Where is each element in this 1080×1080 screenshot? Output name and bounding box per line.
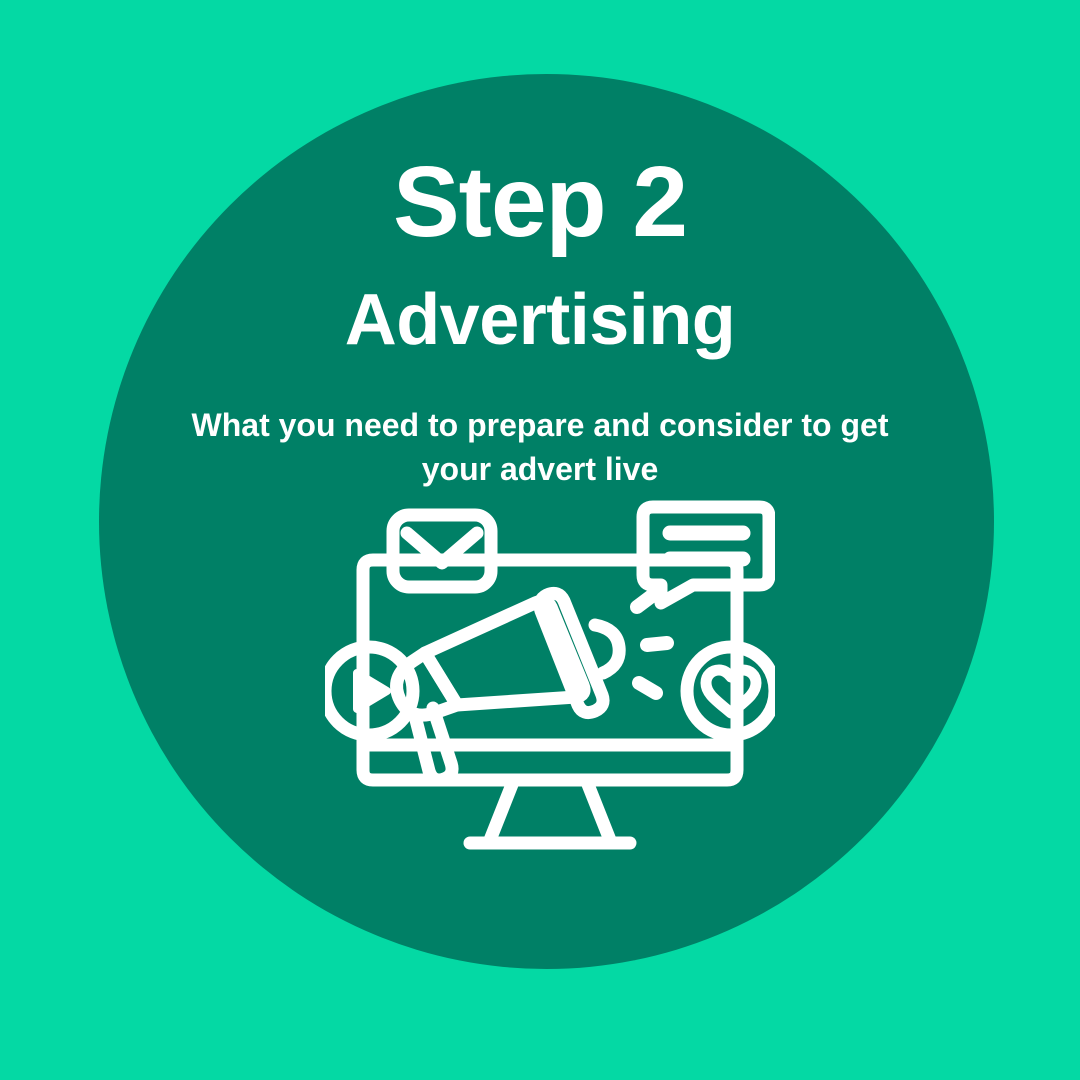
slide-canvas: Step 2 Advertising What you need to prep… — [0, 0, 1080, 1080]
advertising-illustration — [325, 495, 775, 895]
megaphone-icon — [397, 593, 667, 780]
envelope-icon — [393, 515, 491, 587]
